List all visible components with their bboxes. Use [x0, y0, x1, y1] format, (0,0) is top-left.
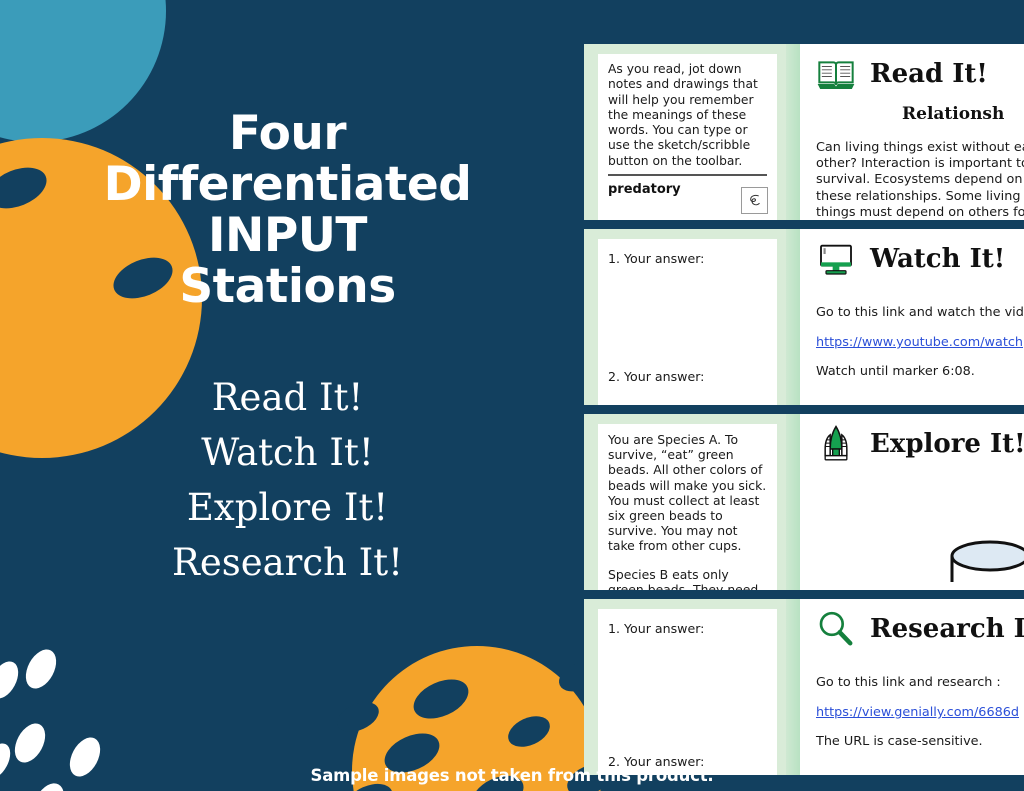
notes-card: As you read, jot down notes and drawings…	[584, 44, 786, 220]
monitor-icon	[816, 239, 856, 279]
station-title-read: Read It!	[870, 59, 988, 89]
poster-canvas: Four Differentiated INPUT Stations Read …	[0, 0, 1024, 791]
station-header-explore: Explore It!	[816, 424, 1024, 464]
station-card-watch: Watch It! Go to this link and watch the …	[786, 229, 1024, 405]
hero-column: Four Differentiated INPUT Stations Read …	[0, 0, 575, 791]
prose-card-explore: You are Species A. To survive, “eat” gre…	[584, 414, 786, 590]
station-title-watch: Watch It!	[870, 244, 1005, 274]
station-list-item-research: Research It!	[53, 535, 523, 590]
disclaimer-caption: Sample images not taken from this produc…	[0, 766, 1024, 785]
cup-icon	[948, 534, 1024, 590]
station-body-read: Can living things exist without ea other…	[816, 140, 1024, 220]
magnifier-icon	[816, 609, 856, 649]
title-line-4: Stations	[53, 261, 523, 312]
station-header-research: Research It!	[816, 609, 1024, 649]
watch-video-link[interactable]: https://www.youtube.com/watch	[816, 335, 1024, 350]
page-title: Four Differentiated INPUT Stations	[53, 108, 523, 312]
title-line-1: Four	[53, 108, 523, 159]
title-line-3: INPUT	[53, 210, 523, 261]
title-line-2: Differentiated	[53, 159, 523, 210]
read-body-line-4: these relationships. Some living	[816, 189, 1020, 204]
explore-paragraph-1: You are Species A. To survive, “eat” gre…	[608, 432, 767, 554]
research-link[interactable]: https://view.genially.com/6686d	[816, 705, 1024, 720]
scribble-icon[interactable]	[741, 187, 768, 214]
read-body-line-3: survival. Ecosystems depend on	[816, 172, 1022, 187]
answer-prompt-1[interactable]: 1. Your answer:	[608, 621, 767, 636]
research-instruction: Go to this link and research :	[816, 675, 1024, 691]
station-sheet-read: Read It! Relationsh Can living things ex…	[800, 44, 1024, 220]
watch-instruction: Go to this link and watch the vide	[816, 305, 1024, 321]
answers-sheet-research: 1. Your answer: 2. Your answer:	[598, 609, 777, 775]
answers-card-research: 1. Your answer: 2. Your answer:	[584, 599, 786, 775]
station-subtitle-read: Relationsh	[902, 104, 1024, 124]
station-sheet-explore: Explore It!	[800, 414, 1024, 590]
open-book-icon	[816, 54, 856, 94]
panel-row-explore: You are Species A. To survive, “eat” gre…	[584, 414, 1024, 590]
station-sheet-watch: Watch It! Go to this link and watch the …	[800, 229, 1024, 405]
station-title-research: Research It!	[870, 614, 1024, 644]
station-card-read: Read It! Relationsh Can living things ex…	[786, 44, 1024, 220]
prose-sheet-explore: You are Species A. To survive, “eat” gre…	[598, 424, 777, 590]
explore-paragraph-2: Species B eats only green beads. They ne…	[608, 567, 767, 590]
rocket-icon	[816, 424, 856, 464]
read-body-line-1: Can living things exist without ea	[816, 140, 1024, 155]
station-header-watch: Watch It!	[816, 239, 1024, 279]
panel-row-watch: 1. Your answer: 2. Your answer:	[584, 229, 1024, 405]
answers-card-watch: 1. Your answer: 2. Your answer:	[584, 229, 786, 405]
station-list: Read It! Watch It! Explore It! Research …	[53, 370, 523, 590]
station-sheet-research: Research It! Go to this link and researc…	[800, 599, 1024, 775]
answer-prompt-1[interactable]: 1. Your answer:	[608, 251, 767, 266]
panel-row-read: As you read, jot down notes and drawings…	[584, 44, 1024, 220]
station-card-research: Research It! Go to this link and researc…	[786, 599, 1024, 775]
notes-instruction: As you read, jot down notes and drawings…	[608, 62, 767, 169]
station-list-item-watch: Watch It!	[53, 425, 523, 480]
read-body-line-5: things must depend on others fo	[816, 205, 1024, 220]
sample-screenshot-stack: As you read, jot down notes and drawings…	[584, 44, 1024, 775]
watch-marker-note: Watch until marker 6:08.	[816, 364, 1024, 379]
station-header-read: Read It!	[816, 54, 1024, 94]
answer-prompt-2[interactable]: 2. Your answer:	[608, 369, 767, 384]
station-list-item-explore: Explore It!	[53, 480, 523, 535]
research-note: The URL is case-sensitive.	[816, 734, 1024, 749]
read-body-line-2: other? Interaction is important to	[816, 156, 1024, 171]
answers-sheet-watch: 1. Your answer: 2. Your answer:	[598, 239, 777, 405]
notes-sheet: As you read, jot down notes and drawings…	[598, 54, 777, 220]
panel-row-research: 1. Your answer: 2. Your answer: Research…	[584, 599, 1024, 775]
station-title-explore: Explore It!	[870, 429, 1024, 459]
station-card-explore: Explore It!	[786, 414, 1024, 590]
station-list-item-read: Read It!	[53, 370, 523, 425]
